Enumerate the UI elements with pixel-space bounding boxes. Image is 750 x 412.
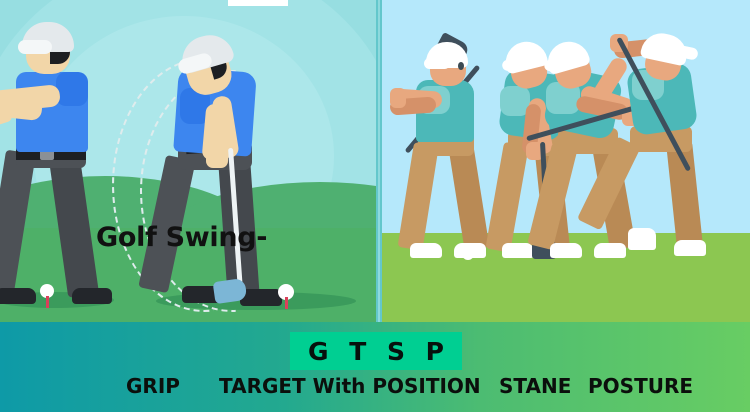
illustration-area: Golf Swing-	[0, 0, 750, 322]
golf-tee-left	[46, 296, 49, 308]
right-illustration-panel	[382, 0, 750, 322]
golfer1-shoe-back	[0, 288, 36, 304]
acronym-letter-t: T	[349, 339, 366, 364]
acronym-letter-g: G	[308, 339, 329, 364]
acronym-letter-p: P	[426, 339, 444, 364]
acronym-letter-s: S	[387, 339, 405, 364]
seq4-shoe-front	[674, 240, 706, 256]
golf-swing-title: Golf Swing-	[96, 222, 267, 253]
gtsp-acronym-box: G T S P	[290, 332, 462, 370]
golf-swing-infographic: Golf Swing-	[0, 0, 750, 412]
golfer1-shoe-front	[72, 288, 112, 304]
seq2-shoe-back	[502, 243, 534, 258]
seq1-cap-brim	[424, 58, 450, 69]
golf-tee-right	[285, 297, 288, 309]
golf-ball-sequence	[462, 248, 474, 260]
label-stane: STANE	[499, 376, 571, 396]
label-target-with-position: TARGET With POSITION	[219, 376, 481, 396]
seq1-eye	[458, 62, 464, 70]
seq1-shoe-back	[410, 243, 442, 258]
seq3-shoe-front	[594, 243, 626, 258]
label-grip: GRIP	[126, 376, 180, 396]
seq3-shoe-back	[550, 243, 582, 258]
seq4-shoe-back	[628, 228, 656, 250]
golfer2-shoe-front	[240, 289, 282, 306]
golfer2-hands	[206, 148, 228, 168]
top-white-marker	[228, 0, 288, 6]
golfer1-cap-brim	[18, 40, 52, 54]
acronym-meanings-row: GRIP TARGET With POSITION STANE POSTURE	[0, 376, 750, 408]
gtsp-banner: G T S P GRIP TARGET With POSITION STANE …	[0, 322, 750, 412]
left-illustration-panel: Golf Swing-	[0, 0, 380, 322]
seq1-hands	[390, 88, 406, 108]
label-posture: POSTURE	[588, 376, 693, 396]
golfer1-sleeve	[56, 72, 88, 106]
